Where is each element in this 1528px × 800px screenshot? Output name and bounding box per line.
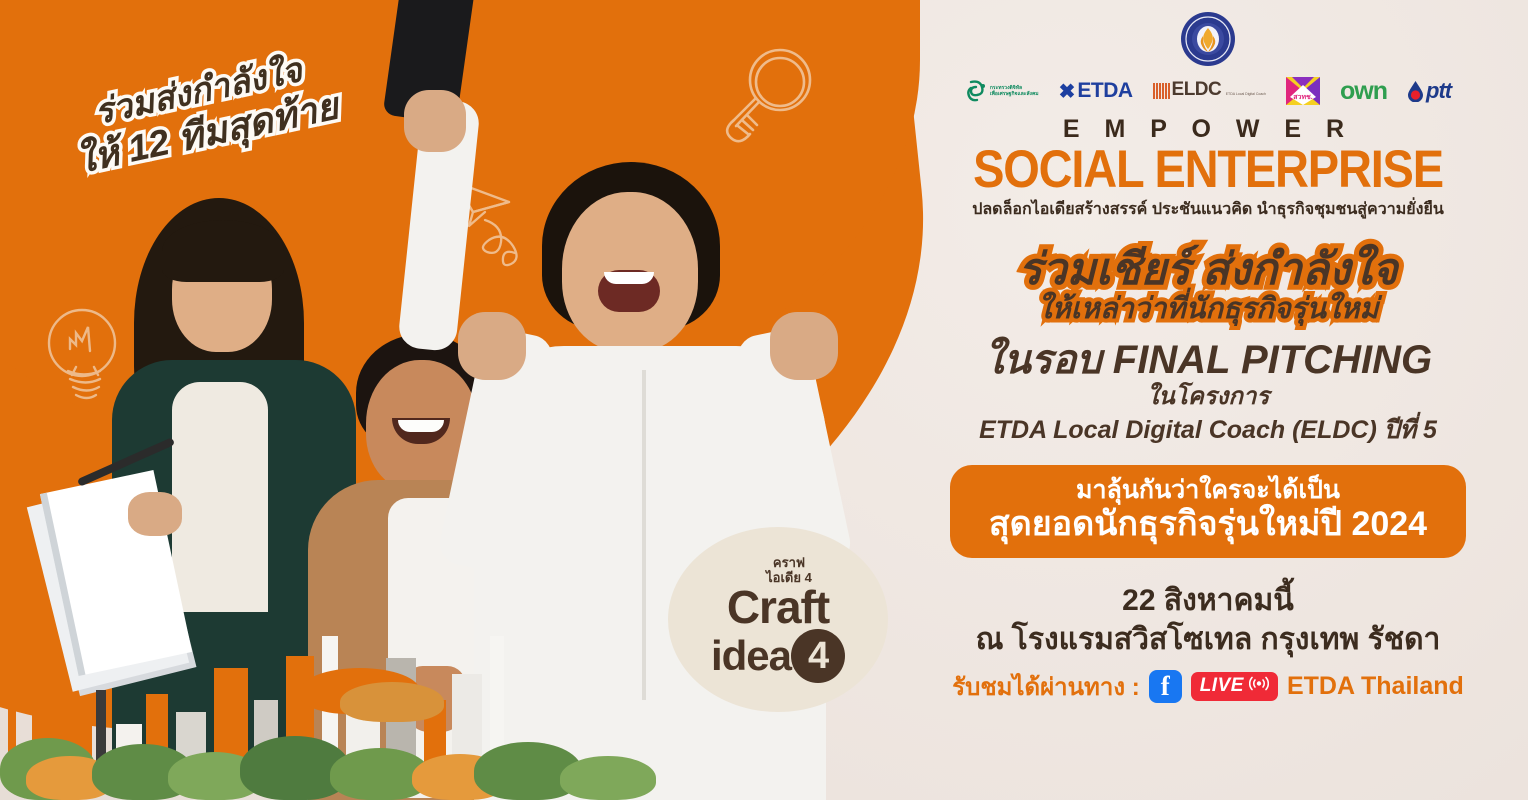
headline-line5: ETDA Local Digital Coach (ELDC) ปีที่ 5 xyxy=(888,415,1528,445)
broadcast-icon xyxy=(1249,675,1269,697)
cta-line2: สุดยอดนักธุรกิจรุ่นใหม่ปี 2024 xyxy=(950,504,1466,545)
cta-line1: มาลุ้นกันว่าใครจะได้เป็น xyxy=(950,476,1466,505)
ptt-drop-icon xyxy=(1407,80,1424,102)
watch-live-row: รับชมได้ผ่านทาง : f LIVE ETDA Thailand xyxy=(888,667,1528,706)
watch-label: รับชมได้ผ่านทาง : xyxy=(952,667,1140,706)
event-date: 22 สิงหาคมนี้ xyxy=(888,582,1528,620)
nstda-mark-icon: สวทช. xyxy=(1286,77,1320,105)
craft-idea-word1: Craft xyxy=(727,586,829,628)
promo-banner: ร่วมส่งกำลังใจ ให้ 12 ทีมสุดท้าย คราฟ ไอ… xyxy=(0,0,1528,800)
svg-text:สวทช.: สวทช. xyxy=(1293,94,1313,101)
event-venue: ณ โรงแรมสวิสโซเทล กรุงเทพ รัชดา xyxy=(888,620,1528,659)
depa-logo-text: กระทรวงดิจิทัลเพื่อเศรษฐกิจและสังคม xyxy=(990,85,1039,98)
eldc-text-block: ELDC ETDA Local Digital Coach xyxy=(1172,82,1266,100)
headline-line3: ในรอบ FINAL PITCHING xyxy=(888,338,1528,382)
craft-idea-word2: idea xyxy=(711,636,791,676)
right-content-column: กระทรวงดิจิทัลเพื่อเศรษฐกิจและสังคม ✖ ET… xyxy=(888,0,1528,800)
depa-mark-icon xyxy=(965,79,987,103)
craft-idea-number: 4 xyxy=(791,629,845,683)
own-logo: own xyxy=(1340,76,1387,106)
social-enterprise-title: SOCIAL ENTERPRISE xyxy=(888,142,1528,196)
craft-idea-thai-line1: คราฟ xyxy=(773,555,805,570)
eldc-logo-text: ELDC xyxy=(1172,79,1222,100)
etda-logo: ✖ ETDA xyxy=(1059,76,1133,106)
headline-line4: ในโครงการ xyxy=(888,383,1528,412)
depa-logo: กระทรวงดิจิทัลเพื่อเศรษฐกิจและสังคม xyxy=(965,76,1039,106)
ptt-logo-text: ptt xyxy=(1426,78,1451,104)
eldc-logo-subtext: ETDA Local Digital Coach xyxy=(1226,92,1266,96)
live-badge: LIVE xyxy=(1191,672,1278,701)
city-skyline-illustration xyxy=(0,610,760,800)
headline-line1: ร่วมเชียร์ ส่งกำลังใจ xyxy=(888,244,1528,295)
etda-x-icon: ✖ xyxy=(1059,79,1076,104)
ptt-logo: ptt xyxy=(1407,76,1451,106)
cta-banner: มาลุ้นกันว่าใครจะได้เป็น สุดยอดนักธุรกิจ… xyxy=(950,465,1466,559)
nstda-logo: สวทช. xyxy=(1286,76,1320,106)
sponsor-logo-row: กระทรวงดิจิทัลเพื่อเศรษฐกิจและสังคม ✖ ET… xyxy=(888,74,1528,108)
eldc-bars-icon xyxy=(1153,83,1170,99)
craft-idea-word2-row: idea 4 xyxy=(711,629,845,683)
live-badge-label: LIVE xyxy=(1200,675,1244,697)
craft-idea-logo: คราฟ ไอเดีย 4 Craft idea 4 xyxy=(668,527,888,712)
channel-name: ETDA Thailand xyxy=(1287,672,1464,701)
royal-thai-government-emblem-icon xyxy=(1179,10,1237,68)
facebook-icon[interactable]: f xyxy=(1149,670,1182,703)
etda-logo-text: ETDA xyxy=(1077,79,1132,103)
program-tagline: ปลดล็อกไอเดียสร้างสรรค์ ประชันแนวคิด นำธ… xyxy=(888,197,1528,222)
eldc-logo: ELDC ETDA Local Digital Coach xyxy=(1153,76,1266,106)
headline-line2: ให้เหล่าว่าที่นักธุรกิจรุ่นใหม่ xyxy=(888,292,1528,327)
